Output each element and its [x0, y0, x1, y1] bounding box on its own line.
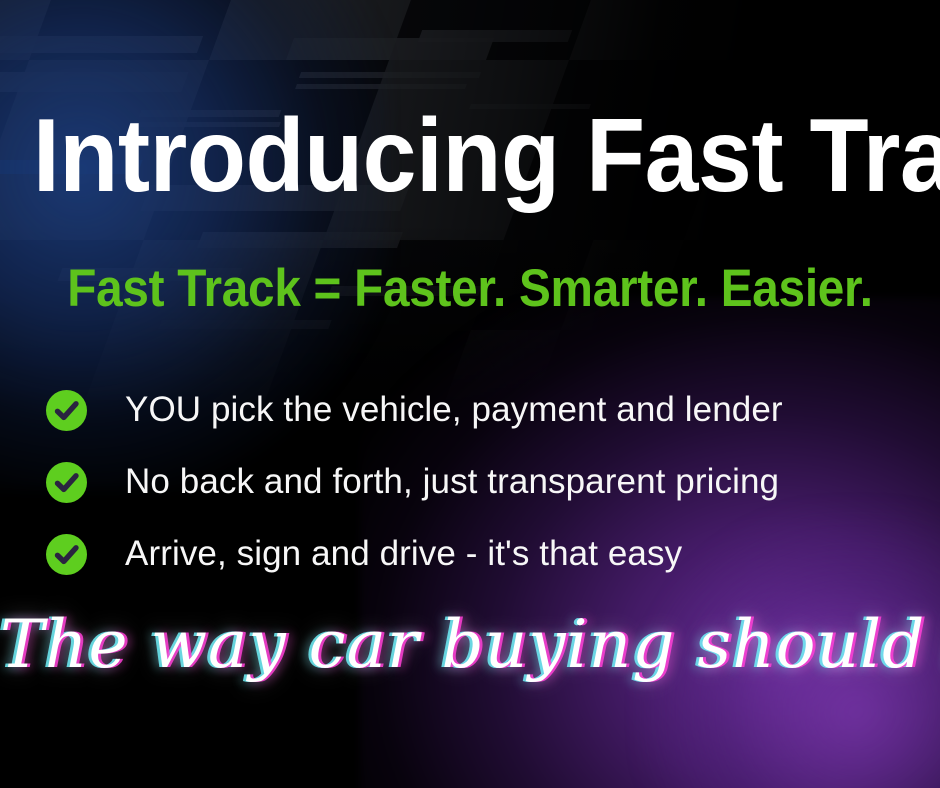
check-circle-icon: [46, 390, 87, 431]
promo-poster: Introducing Fast Track Fast Track = Fast…: [0, 0, 940, 788]
list-item: No back and forth, just transparent pric…: [46, 446, 906, 518]
list-item: YOU pick the vehicle, payment and lender: [46, 374, 906, 446]
script-tagline: The way car buying should be.: [0, 612, 940, 678]
poster-content: Introducing Fast Track Fast Track = Fast…: [0, 0, 940, 788]
page-subtitle: Fast Track = Faster. Smarter. Easier.: [47, 262, 893, 315]
list-item-label: YOU pick the vehicle, payment and lender: [125, 390, 783, 430]
benefits-list: YOU pick the vehicle, payment and lender…: [46, 374, 906, 590]
check-circle-icon: [46, 462, 87, 503]
list-item-label: Arrive, sign and drive - it's that easy: [125, 534, 682, 574]
list-item-label: No back and forth, just transparent pric…: [125, 462, 779, 502]
page-title: Introducing Fast Track: [33, 104, 907, 208]
check-circle-icon: [46, 534, 87, 575]
list-item: Arrive, sign and drive - it's that easy: [46, 518, 906, 590]
